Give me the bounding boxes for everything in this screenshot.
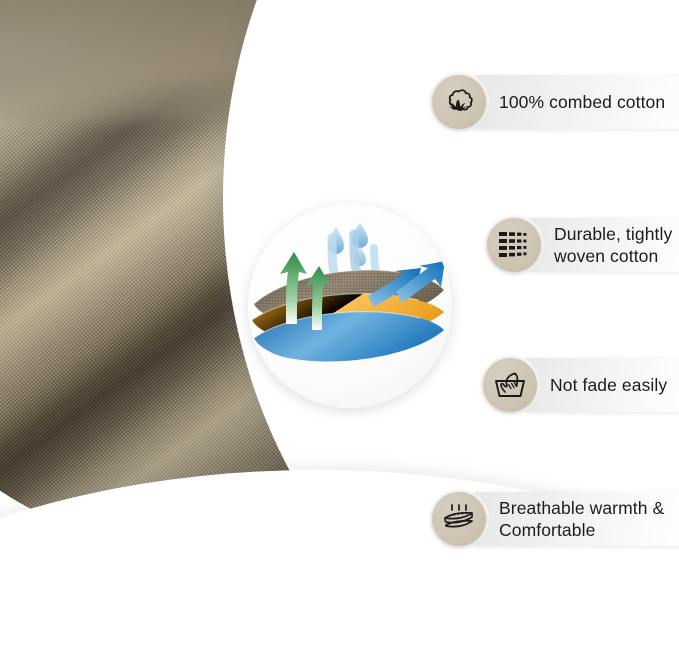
breathability-diagram <box>248 204 452 408</box>
breathability-diagram-art <box>248 204 452 408</box>
feature-badge-cotton[interactable]: 100% combed cotton <box>432 75 665 129</box>
feature-badge-durable[interactable]: Durable, tightly woven cotton <box>487 218 672 272</box>
hand-wash-basin-icon <box>483 358 537 412</box>
breathable-layers-glyph <box>441 504 477 534</box>
feature-label: Not fade easily <box>550 374 667 396</box>
woven-grid-glyph <box>498 230 530 260</box>
feature-label: Durable, tightly woven cotton <box>554 223 672 267</box>
breathable-layers-icon <box>432 492 486 546</box>
feature-badge-not-fade[interactable]: Not fade easily <box>483 358 667 412</box>
feature-label: Breathable warmth & Comfortable <box>499 497 664 541</box>
hand-wash-basin-glyph <box>493 369 527 401</box>
infographic-canvas: 100% combed cotton <box>0 0 679 654</box>
cotton-boll-icon <box>432 75 486 129</box>
feature-badge-breathable[interactable]: Breathable warmth & Comfortable <box>432 492 664 546</box>
cotton-boll-glyph <box>442 85 476 119</box>
feature-label: 100% combed cotton <box>499 91 665 113</box>
woven-grid-icon <box>487 218 541 272</box>
